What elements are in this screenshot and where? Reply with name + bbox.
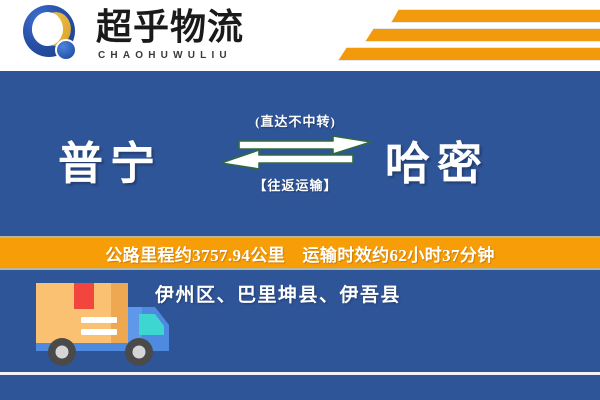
delivery-truck-icon bbox=[24, 275, 174, 370]
bottom-divider bbox=[0, 372, 600, 375]
company-name-cn: 超乎物流 bbox=[96, 9, 244, 47]
coverage-districts-text: 伊州区、巴里坤县、伊吾县 bbox=[155, 280, 401, 307]
coverage-section: 伊州区、巴里坤县、伊吾县 bbox=[0, 270, 600, 400]
banner-header: 超乎物流 CHAOHUWULIU bbox=[0, 0, 600, 71]
header-stripe-decoration bbox=[280, 0, 600, 71]
double-headed-arrow-icon bbox=[221, 136, 371, 170]
chaohu-logo-circle-icon bbox=[22, 4, 84, 66]
logo-dot-shape bbox=[55, 39, 77, 61]
company-name-pinyin: CHAOHUWULIU bbox=[98, 50, 244, 61]
company-logo[interactable]: 超乎物流 CHAOHUWULIU bbox=[22, 4, 244, 66]
header-stripe-2 bbox=[365, 28, 600, 42]
header-stripe-1 bbox=[391, 9, 600, 23]
route-info-text: 公路里程约3757.94公里 运输时效约62小时37分钟 bbox=[105, 241, 494, 266]
header-stripe-3 bbox=[338, 47, 600, 61]
route-note-roundtrip: 【往返运输】 bbox=[218, 175, 373, 194]
route-middle-group: (直达不中转) 【往返运输】 bbox=[218, 111, 373, 194]
origin-city: 普宁 bbox=[58, 127, 162, 192]
route-note-direct: (直达不中转) bbox=[218, 111, 373, 130]
route-info-bar: 公路里程约3757.94公里 运输时效约62小时37分钟 bbox=[0, 236, 600, 270]
route-section: 普宁 (直达不中转) 【往返运输】 哈密 bbox=[0, 71, 600, 236]
logistics-route-banner: 超乎物流 CHAOHUWULIU 普宁 (直达不中转) 【往返运输】 哈密 bbox=[0, 0, 600, 400]
destination-city: 哈密 bbox=[385, 127, 489, 192]
company-logo-text: 超乎物流 CHAOHUWULIU bbox=[96, 9, 244, 61]
